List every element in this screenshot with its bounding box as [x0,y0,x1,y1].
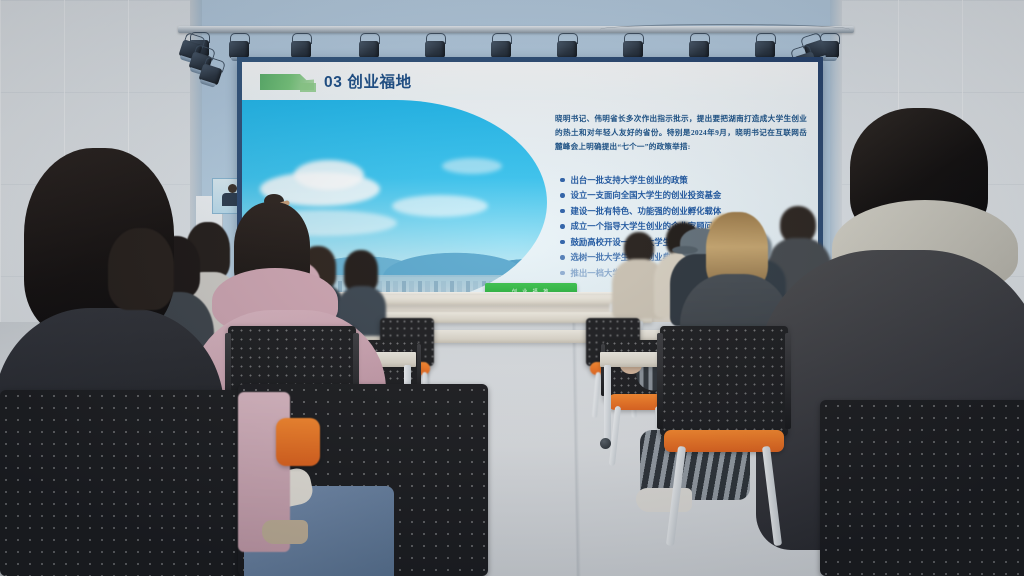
cloud [294,160,364,190]
cloud [442,158,502,174]
portrait-head [228,184,237,193]
cap-brim-icon [672,246,698,254]
chair-rail [785,333,791,430]
bullet-dot-icon [560,178,565,183]
shoe [262,520,308,544]
list-item-label: 设立一支面向全国大学生的创业投资基金 [571,189,722,201]
bullet-dot-icon [560,209,565,214]
bullet-dot-icon [560,224,565,229]
cloud [392,195,488,217]
chair-back [820,400,1024,576]
list-item-label: 建设一批有特色、功能强的创业孵化载体 [571,205,722,217]
bullet-dot-icon [560,271,565,276]
chair-rail [657,333,663,430]
chair [820,400,1024,576]
desk-caster [600,438,611,449]
chair [660,326,788,436]
list-item: 出台一批支持大学生创业的政策 [560,172,818,188]
slide-paragraph: 晓明书记、伟明省长多次作出指示批示，提出要把湖南打造成大学生创业的热土和对年轻人… [555,112,807,154]
shoe [636,488,692,512]
desk [368,296,620,305]
chair-back [660,326,788,436]
list-item: 设立一支面向全国大学生的创业投资基金 [560,188,818,204]
bullet-dot-icon [560,240,565,245]
list-item-label: 出台一批支持大学生创业的政策 [571,174,688,186]
list-item: 建设一批有特色、功能强的创业孵化载体 [560,203,818,219]
slide-accent-chip-secondary-icon [300,83,316,92]
chair-seat [276,418,320,466]
slide-title: 03 创业福地 [324,70,412,92]
lecture-hall-screenshot: 03 创业福地 晓明书记、伟明省长多次作出指示批示，提出要把湖南打造成大学生创业… [0,0,1024,576]
desk-leg [604,365,611,443]
hair [108,228,174,310]
bullet-dot-icon [560,193,565,198]
bullet-dot-icon [560,255,565,260]
